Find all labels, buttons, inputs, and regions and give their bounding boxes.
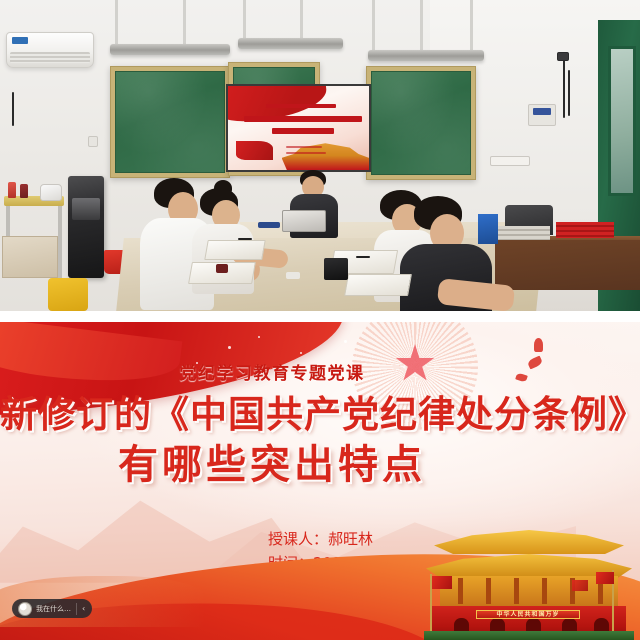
chalkboard-right xyxy=(366,66,476,180)
share-control-pill[interactable]: 我在什么… ‹ xyxy=(12,599,92,618)
lamp-rod xyxy=(243,0,246,38)
phone-on-table xyxy=(216,264,228,273)
open-notebook xyxy=(344,274,412,296)
sparkle-dot xyxy=(300,352,302,354)
gate-banner-text: 中华人民共和国万岁 xyxy=(476,610,580,619)
presentation-slide: 党纪学习教育专题党课 新修订的《中国共产党纪律处分条例》 有哪些突出特点 授课人… xyxy=(0,322,640,640)
ac-vent xyxy=(10,52,90,63)
chalkboard-surface xyxy=(115,71,225,173)
gate-upper-roof xyxy=(434,530,624,554)
display-slide-text-line xyxy=(244,116,362,122)
open-notebook xyxy=(204,240,266,260)
ceiling-lamp xyxy=(110,44,230,55)
yellow-chair xyxy=(48,278,88,311)
gate-column xyxy=(486,578,491,604)
water-dispenser xyxy=(68,176,104,278)
blue-bag xyxy=(478,214,498,244)
red-flag xyxy=(572,580,588,591)
red-flag xyxy=(596,572,614,584)
slide-presenter: 授课人：郝旺林 xyxy=(268,527,399,551)
chevron-left-icon[interactable]: ‹ xyxy=(82,605,90,613)
screenshot-root: 党纪学习教育专题党课 新修订的《中国共产党纪律处分条例》 有哪些突出特点 授课人… xyxy=(0,0,640,640)
share-control-label: 我在什么… xyxy=(36,604,71,614)
classroom-display-screen xyxy=(226,84,371,172)
dispenser-panel xyxy=(72,198,100,220)
gate-column xyxy=(542,578,547,604)
ceiling-lamp xyxy=(238,38,343,49)
red-flag xyxy=(432,576,452,589)
sparkle-dot xyxy=(258,336,260,338)
lamp-rod xyxy=(115,0,118,44)
sparkle-dot xyxy=(344,340,347,343)
sparkle-dot xyxy=(228,346,231,349)
pen xyxy=(356,256,370,258)
thermos-bottle xyxy=(20,184,28,198)
lamp-rod xyxy=(300,0,303,38)
red-flourish xyxy=(534,338,543,352)
slide-title-line-1: 新修订的《中国共产党纪律处分条例》 xyxy=(0,384,640,438)
door-glass xyxy=(608,46,636,196)
wall-switch xyxy=(88,136,98,147)
gate-greenery xyxy=(424,631,634,640)
classroom-photo xyxy=(0,0,640,311)
phone-on-table xyxy=(286,272,300,279)
tablet-device xyxy=(324,258,348,280)
storage-boxes xyxy=(2,236,58,278)
lamp-rod xyxy=(183,0,186,44)
wall-cable xyxy=(12,92,14,126)
hanging-cable xyxy=(568,70,570,116)
tiananmen-gate-illustration: 中华人民共和国万岁 xyxy=(424,522,634,640)
thermos-bottle xyxy=(8,182,16,198)
side-desk xyxy=(495,240,640,290)
air-conditioner xyxy=(6,32,94,68)
lamp-rod xyxy=(420,0,423,50)
display-slide-text-line xyxy=(266,104,336,108)
gate-column xyxy=(458,578,463,604)
paper-stack xyxy=(498,226,550,240)
gate-body xyxy=(440,576,618,606)
red-folder-stack xyxy=(556,222,614,238)
keyboard xyxy=(258,222,280,228)
lamp-rod xyxy=(470,0,473,50)
meeting-screen-share: 党纪学习教育专题党课 新修订的《中国共产党纪律处分条例》 有哪些突出特点 授课人… xyxy=(0,322,640,640)
image-separator xyxy=(0,311,640,322)
laptop-teacher xyxy=(282,210,326,232)
shelf-leg xyxy=(58,206,62,278)
pen xyxy=(238,238,252,240)
wall-panel-display xyxy=(533,108,551,115)
wall-socket xyxy=(490,156,530,166)
slide-kicker: 党纪学习教育专题党课 xyxy=(0,359,640,384)
slide-title-line-2: 有哪些突出特点 xyxy=(0,432,640,490)
display-slide-text-line xyxy=(286,146,322,148)
chalkboard-left xyxy=(110,66,230,178)
display-slide-text-line xyxy=(272,128,334,134)
control-divider xyxy=(76,603,77,615)
hanging-cable xyxy=(563,56,565,118)
display-slide-text-line xyxy=(286,152,326,154)
ceiling-lamp xyxy=(368,50,484,61)
electric-kettle xyxy=(40,184,62,201)
gate-column xyxy=(514,578,519,604)
display-slide-flag xyxy=(236,141,273,159)
ac-badge xyxy=(12,37,28,44)
lamp-rod xyxy=(372,0,375,50)
chalkboard-surface xyxy=(371,71,471,175)
wall-hook xyxy=(557,52,569,61)
speaker-avatar-icon xyxy=(18,602,32,616)
